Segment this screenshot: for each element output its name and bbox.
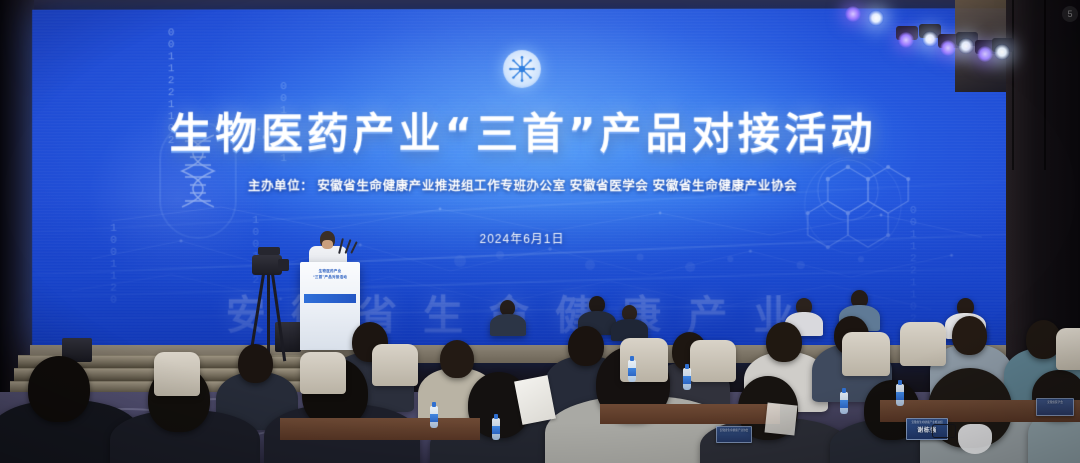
- event-organizers: 主办单位： 安徽省生命健康产业推进组工作专班办公室 安徽省医学会 安徽省生命健康…: [32, 175, 1016, 194]
- carpet-pattern: [150, 398, 290, 438]
- podium-accent-band: [304, 294, 356, 303]
- event-date: 2024年6月1日: [32, 230, 1016, 248]
- camera-top-handle: [258, 247, 280, 255]
- tripod-leg: [267, 274, 270, 366]
- cell-molecule-logo-icon: [503, 50, 541, 88]
- bottle-label: [683, 376, 691, 384]
- stage-light: [958, 38, 974, 54]
- speaker-face: [322, 240, 333, 249]
- stage-monitor-speaker: [62, 338, 92, 362]
- podium-title-line1: 生物医药产业: [306, 269, 354, 274]
- stage-light: [922, 31, 938, 47]
- led-headline-block: 生物医药产业“三首”产品对接活动 主办单位： 安徽省生命健康产业推进组工作专班办…: [32, 8, 1016, 247]
- camera-lens: [278, 259, 289, 271]
- carpet-pattern: [0, 426, 130, 463]
- stage-light: [940, 40, 956, 56]
- stage-light: [868, 10, 884, 26]
- conference-hall-scene: 0011221102 0011231 1001120 100112 001122…: [0, 0, 1080, 463]
- stage-light: [898, 32, 914, 48]
- corner-overlay-mark: 5: [1062, 6, 1078, 22]
- stage-step: [14, 368, 314, 381]
- stage-light: [994, 44, 1010, 60]
- stage-step: [248, 356, 328, 368]
- water-bottle: [628, 360, 636, 382]
- right-wall: [1006, 0, 1080, 463]
- bottle-label: [628, 368, 636, 376]
- wall-seam: [1044, 0, 1046, 170]
- stage-light: [977, 46, 993, 62]
- water-bottle: [683, 368, 691, 390]
- podium: 生物医药产业 “三首”产品对接活动: [300, 262, 360, 350]
- led-display-screen: 0011221102 0011231 1001120 100112 001122…: [32, 8, 1016, 349]
- stage-light: [845, 6, 861, 22]
- event-main-title: 生物医药产业“三首”产品对接活动: [32, 100, 1016, 161]
- wall-seam: [1012, 0, 1014, 170]
- podium-title-line2: “三首”产品对接活动: [306, 275, 354, 280]
